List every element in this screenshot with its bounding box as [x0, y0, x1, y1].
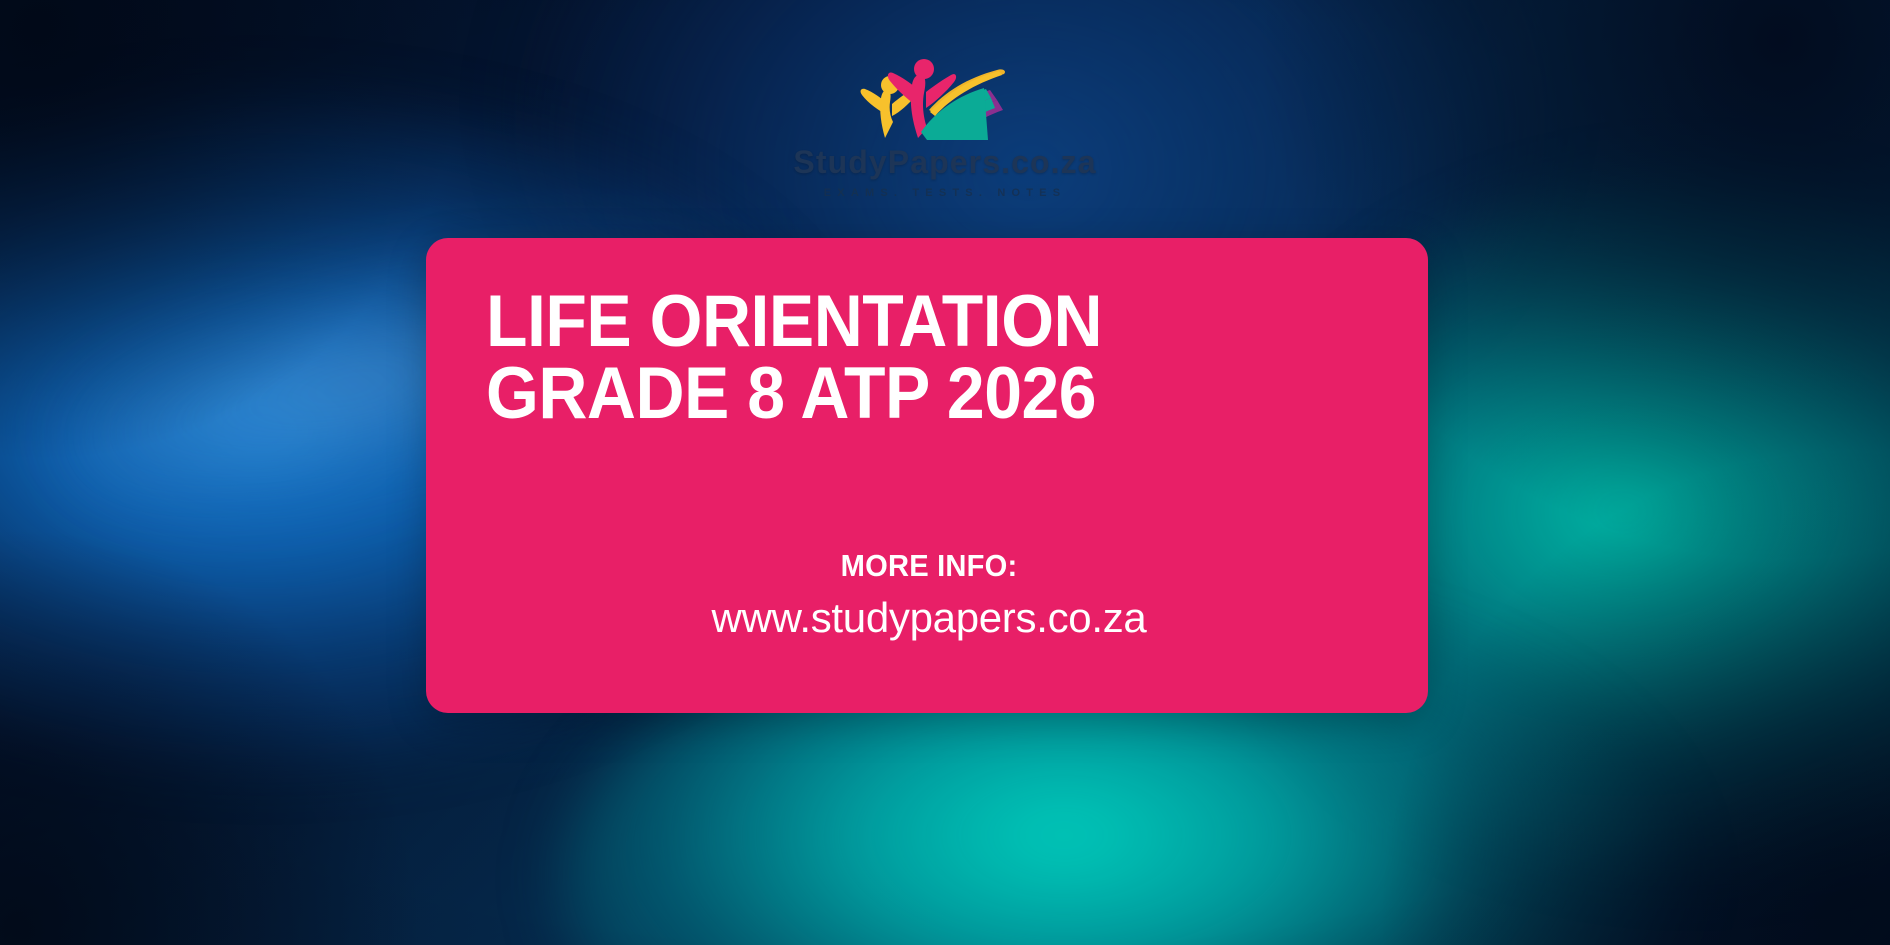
page-title: LIFE ORIENTATION GRADE 8 ATP 2026	[486, 286, 1310, 429]
card-footer: MORE INFO: www.studypapers.co.za	[486, 550, 1372, 673]
studypapers-book-and-figures-logo-icon	[857, 52, 1033, 140]
more-info-label: MORE INFO:	[513, 550, 1346, 581]
website-url[interactable]: www.studypapers.co.za	[486, 597, 1372, 639]
page-title-line-1: LIFE ORIENTATION	[486, 286, 1310, 358]
promo-card: LIFE ORIENTATION GRADE 8 ATP 2026 MORE I…	[426, 238, 1428, 713]
logo-tagline: EXAMS. TESTS. NOTES	[824, 188, 1067, 199]
page-title-line-2: GRADE 8 ATP 2026	[486, 358, 1310, 430]
brand-logo: StudyPapers.co.za EXAMS. TESTS. NOTES	[0, 52, 1890, 199]
logo-wordmark: StudyPapers.co.za	[793, 146, 1096, 178]
promo-banner: StudyPapers.co.za EXAMS. TESTS. NOTES LI…	[0, 0, 1890, 945]
